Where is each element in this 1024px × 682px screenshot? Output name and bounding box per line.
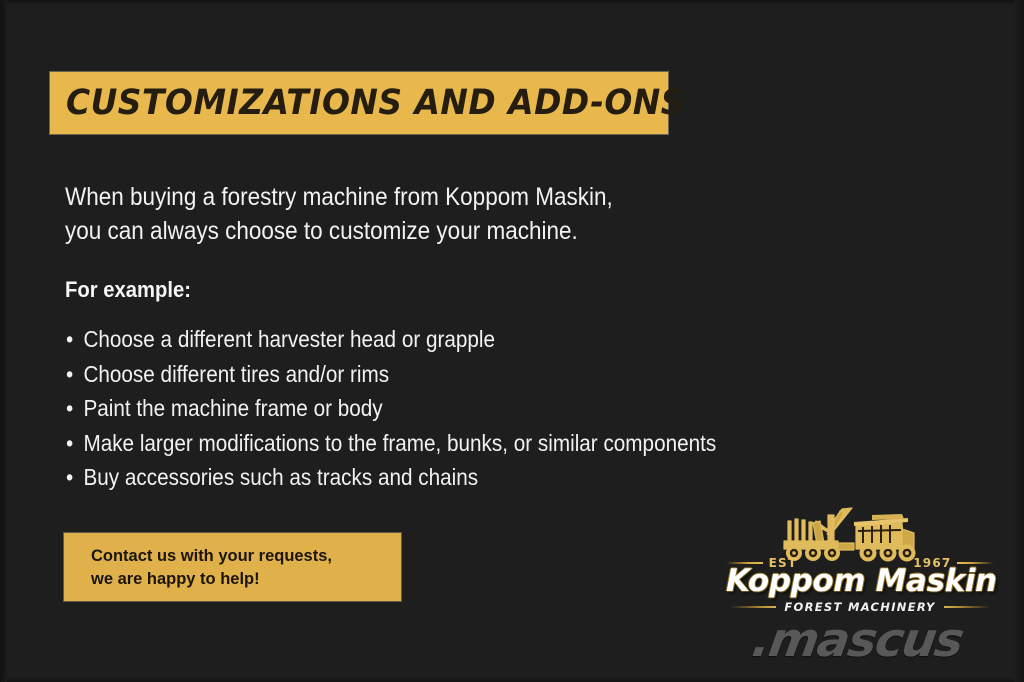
intro-line-2: you can always choose to customize your … (65, 214, 749, 248)
list-item: • Paint the machine frame or body (66, 391, 786, 426)
contact-line-1: Contact us with your requests, (91, 544, 392, 567)
list-item-label: Buy accessories such as tracks and chain… (83, 464, 478, 490)
logo-brand-name: Koppom Maskin (726, 563, 994, 599)
customization-list: • Choose a different harvester head or g… (66, 322, 786, 495)
bullet-icon: • (66, 357, 78, 392)
koppom-maskin-logo: EST 1967 Koppom Maskin FOREST MACHINERY (726, 503, 994, 611)
contact-callout-box[interactable]: Contact us with your requests, we are ha… (64, 533, 401, 601)
bullet-icon: • (66, 391, 78, 426)
contact-line-2: we are happy to help! (91, 567, 392, 590)
edge-shade-top (0, 0, 1024, 5)
logo-tagline: FOREST MACHINERY (776, 600, 943, 614)
list-item-label: Paint the machine frame or body (83, 395, 382, 421)
list-item: • Buy accessories such as tracks and cha… (66, 460, 786, 495)
intro-paragraph: When buying a forestry machine from Kopp… (65, 180, 749, 248)
mascus-watermark: .mascus (748, 613, 966, 668)
list-item-label: Choose a different harvester head or gra… (83, 326, 495, 352)
intro-line-1: When buying a forestry machine from Kopp… (65, 180, 749, 214)
example-label: For example: (65, 277, 191, 303)
bullet-icon: • (66, 322, 78, 357)
list-item: • Choose a different harvester head or g… (66, 322, 786, 357)
slide-canvas: CUSTOMIZATIONS AND ADD-ONS When buying a… (0, 0, 1024, 682)
list-item: • Make larger modifications to the frame… (66, 426, 786, 461)
bullet-icon: • (66, 426, 78, 461)
logo-tagline-row: FOREST MACHINERY (730, 600, 990, 614)
bullet-icon: • (66, 460, 78, 495)
title-banner: CUSTOMIZATIONS AND ADD-ONS (50, 72, 668, 134)
list-item: • Choose different tires and/or rims (66, 357, 786, 392)
edge-shade-right (1014, 0, 1024, 682)
edge-shade-bottom (0, 676, 1024, 682)
logo-tagline-rule-right (944, 606, 990, 608)
edge-shade-left (0, 0, 7, 682)
page-title: CUSTOMIZATIONS AND ADD-ONS (66, 83, 685, 123)
logo-tagline-rule-left (730, 606, 776, 608)
list-item-label: Make larger modifications to the frame, … (83, 430, 716, 456)
list-item-label: Choose different tires and/or rims (83, 361, 389, 387)
